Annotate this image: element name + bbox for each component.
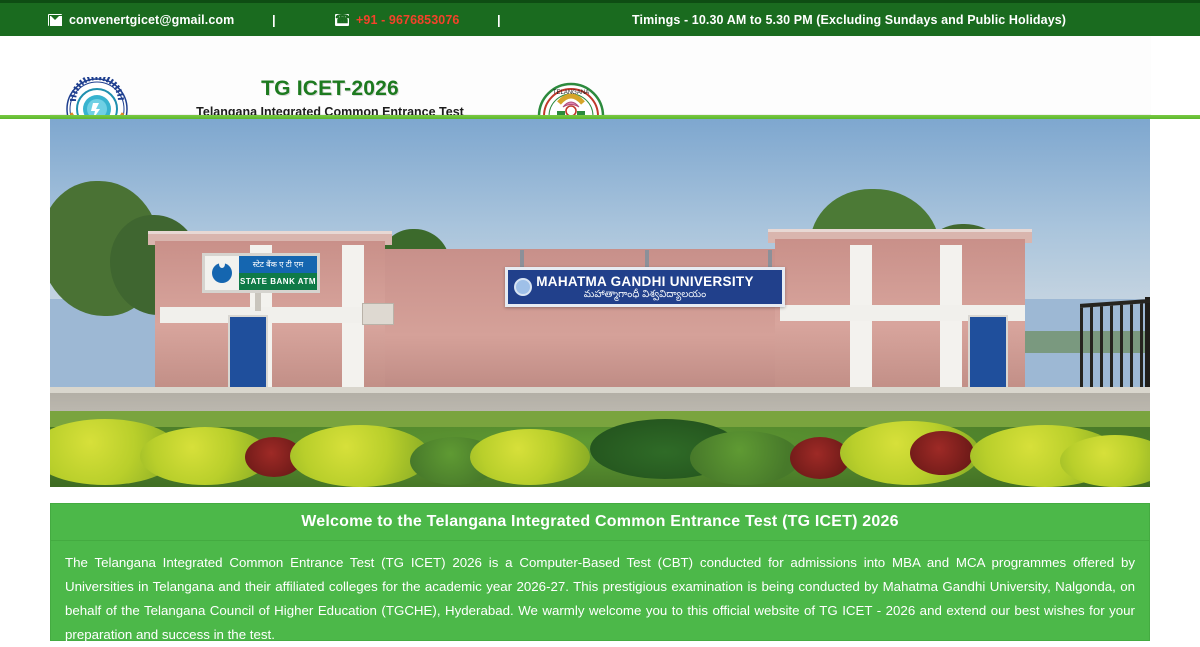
welcome-heading: Welcome to the Telangana Integrated Comm… (301, 513, 898, 531)
sbi-logo-icon (205, 256, 239, 290)
flower-bush (470, 429, 590, 485)
building-band (160, 307, 385, 323)
welcome-body-text: The Telangana Integrated Common Entrance… (65, 551, 1135, 647)
welcome-panel-header: Welcome to the Telangana Integrated Comm… (50, 503, 1150, 541)
university-signboard: MAHATMA GANDHI UNIVERSITY మహాత్మాగాంధీ వ… (505, 267, 785, 307)
top-info-bar: convenertgicet@gmail.com | +91 - 9676853… (0, 0, 1200, 36)
signboard-english-text: MAHATMA GANDHI UNIVERSITY (536, 274, 754, 289)
atm-sign-hindi: स्टेट बैंक ए टी एम (239, 256, 317, 273)
contact-email-text: convenertgicet@gmail.com (69, 13, 234, 27)
air-conditioner-unit (362, 303, 394, 325)
site-header: TG ICET-2026 Telangana Integrated Common… (0, 36, 1200, 119)
office-timings: Timings - 10.30 AM to 5.30 PM (Excluding… (632, 13, 1066, 27)
mail-icon (48, 14, 62, 26)
welcome-panel: Welcome to the Telangana Integrated Comm… (50, 503, 1150, 641)
topbar-separator-1: | (272, 12, 276, 27)
signboard-post (645, 250, 649, 268)
state-bank-atm-sign: स्टेट बैंक ए टी एम STATE BANK ATM (202, 253, 320, 293)
contact-phone[interactable]: +91 - 9676853076 (335, 13, 459, 27)
signboard-post (520, 250, 524, 268)
university-emblem-icon (514, 278, 532, 296)
hero-campus-image: स्टेट बैंक ए टी एम STATE BANK ATM MAHATM… (50, 119, 1150, 487)
welcome-panel-body: The Telangana Integrated Common Entrance… (50, 541, 1150, 641)
phone-icon (335, 14, 349, 26)
blue-door-right (968, 315, 1008, 393)
svg-text:TELANGANA: TELANGANA (553, 90, 589, 96)
green-bush (690, 431, 800, 485)
signboard-telugu-text: మహాత్మాగాంధీ విశ్వవిద్యాలయం (584, 289, 706, 301)
sign-pole (255, 293, 261, 311)
contact-phone-text: +91 - 9676853076 (356, 13, 459, 27)
blue-door-left (228, 315, 268, 393)
red-foliage-bush (910, 431, 974, 475)
page-title: TG ICET-2026 (140, 76, 520, 102)
signboard-post (768, 250, 772, 268)
office-timings-text: Timings - 10.30 AM to 5.30 PM (Excluding… (632, 13, 1066, 27)
lawn-edge (50, 411, 1150, 427)
topbar-separator-2: | (497, 12, 501, 27)
contact-email[interactable]: convenertgicet@gmail.com (48, 13, 234, 27)
atm-sign-english: STATE BANK ATM (239, 273, 317, 290)
flower-bush (290, 425, 430, 487)
